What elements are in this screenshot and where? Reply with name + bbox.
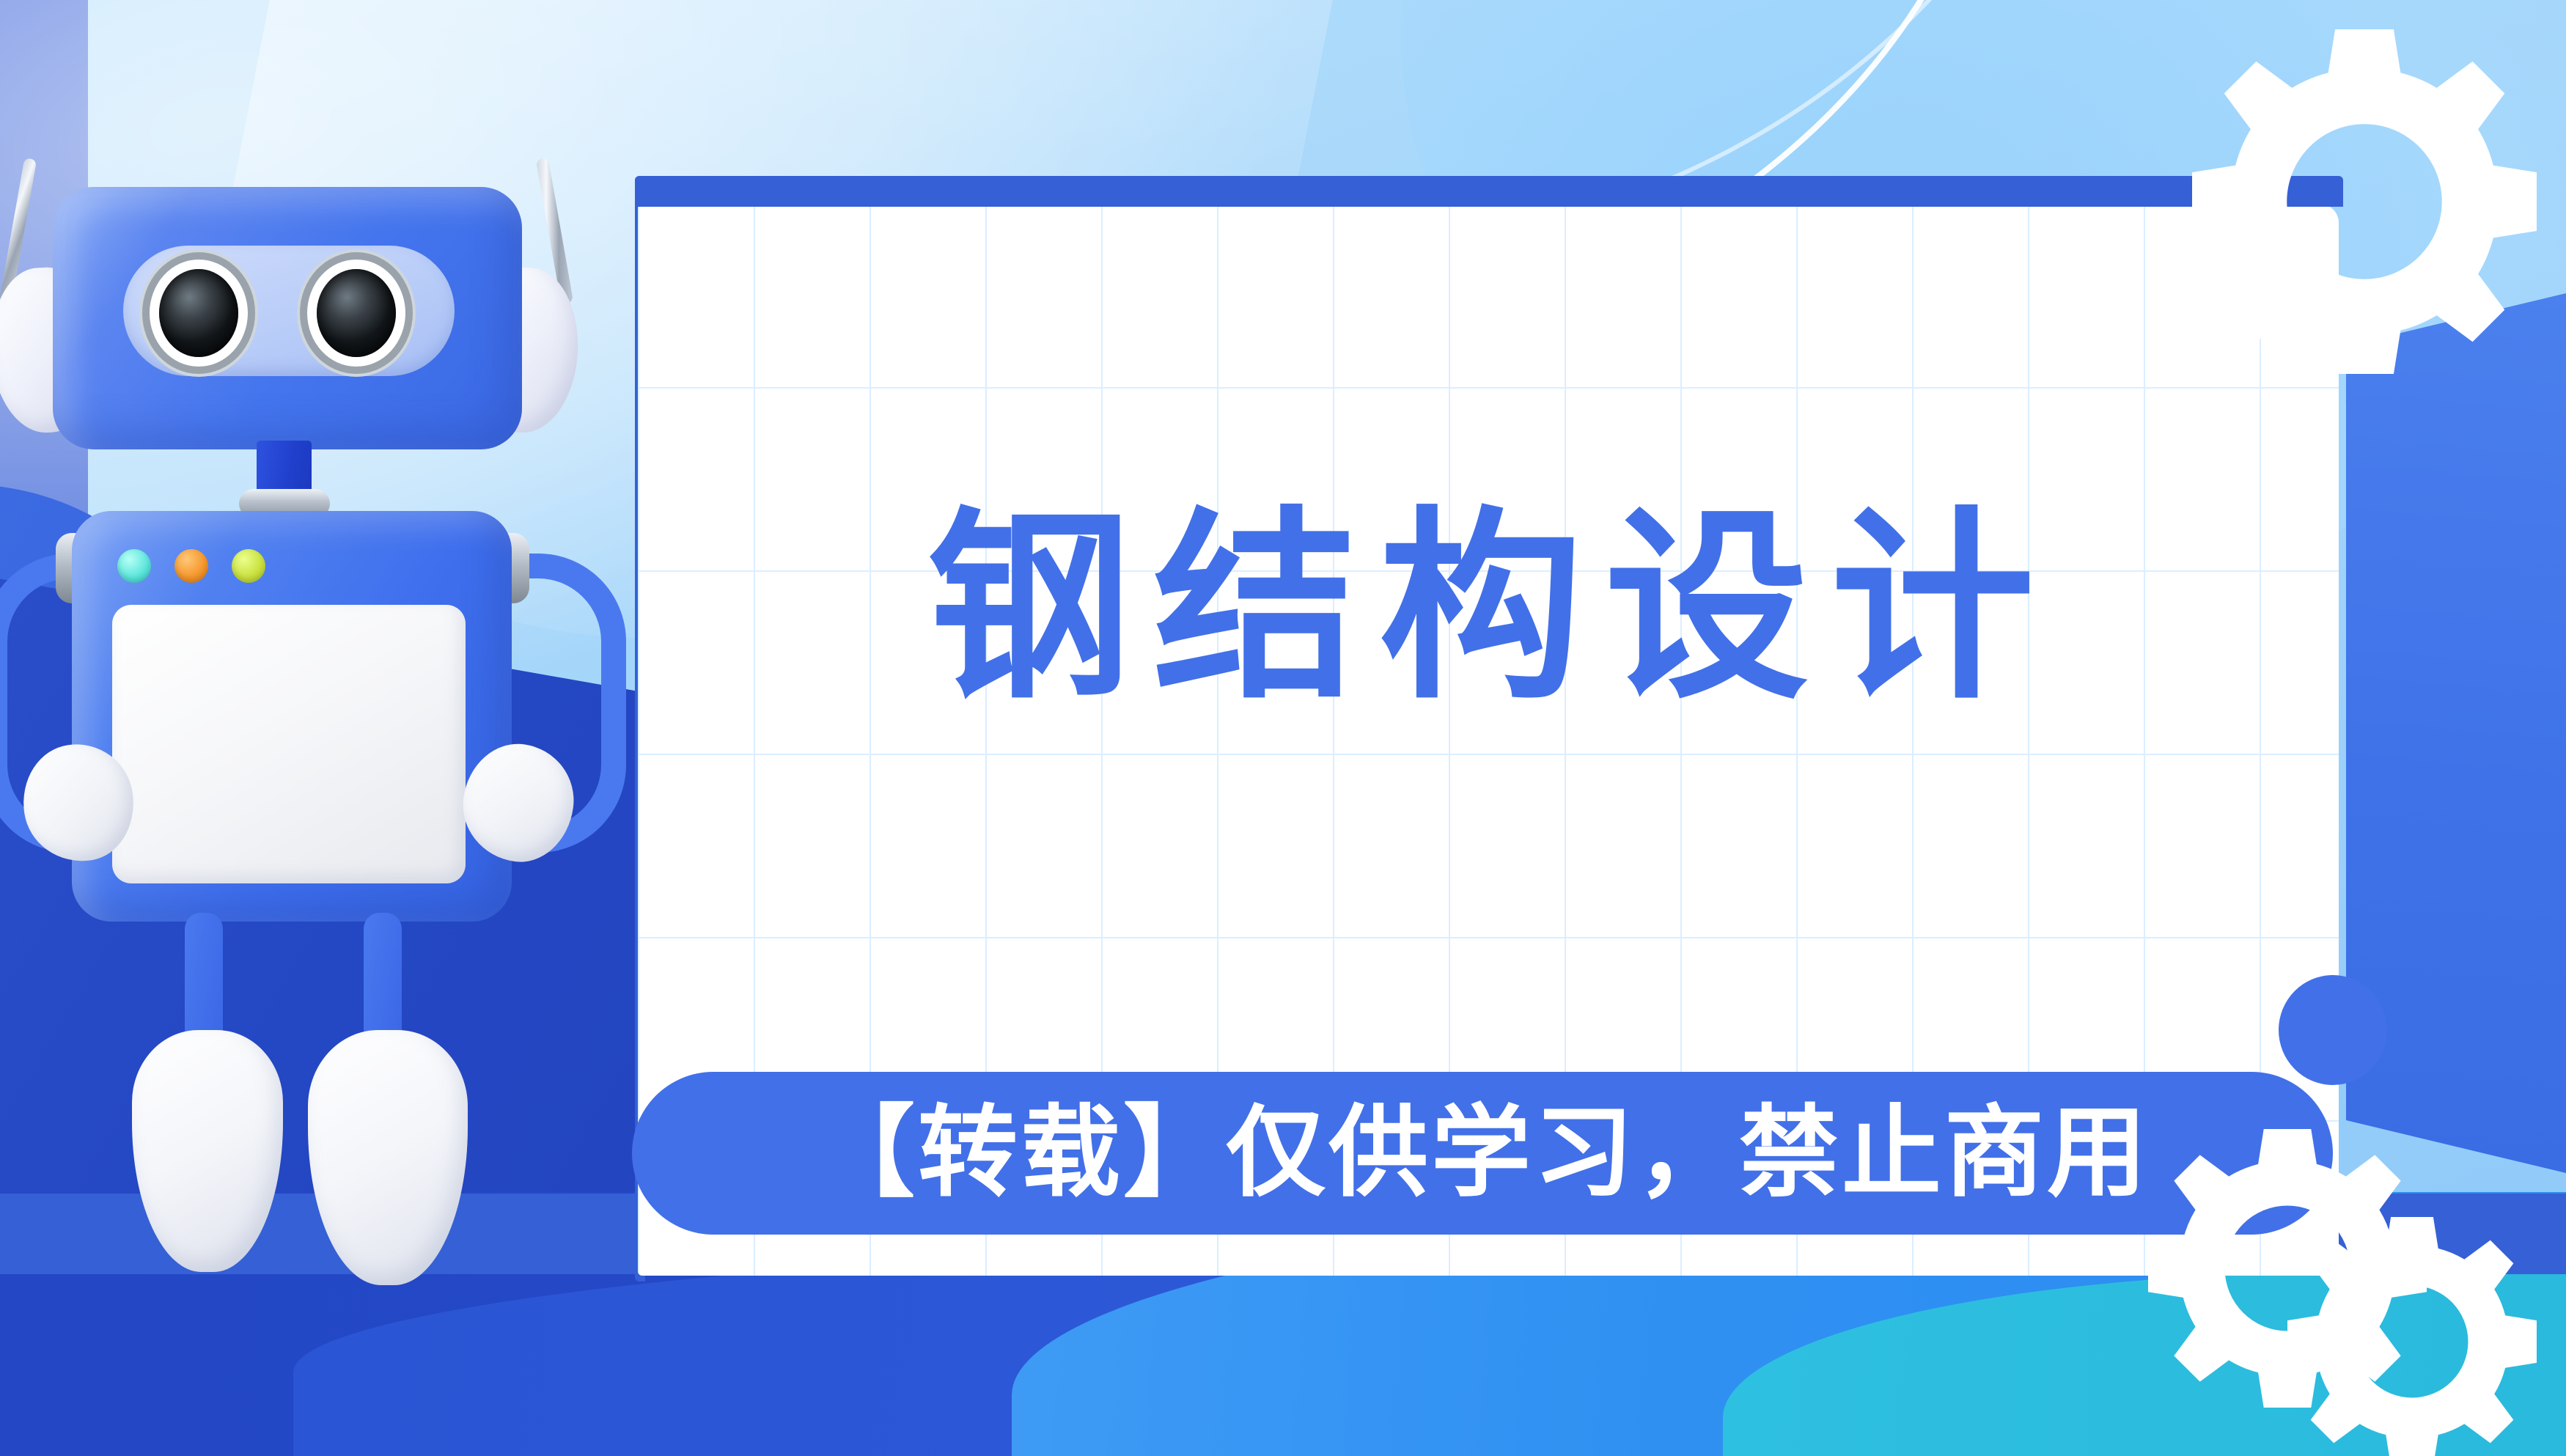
indicator-light-cyan [117,549,151,583]
gear-icon [2192,29,2537,374]
gear-icon [2287,1217,2537,1456]
left-eye-lens [159,269,238,357]
indicator-light-orange [174,549,208,583]
robot-chest-screen [112,605,466,883]
page-title: 钢结构设计 [704,506,2280,710]
decorative-blue-dot [2279,975,2387,1085]
panel-frame-top-border [635,176,2343,207]
robot-torso [72,511,512,922]
robot-mascot [0,158,667,1345]
indicator-light-yellow-green [232,549,265,583]
right-eye-lens [317,269,396,357]
subtitle-banner: 【转载】仅供学习，禁止商用 [632,1072,2333,1235]
subtitle-text: 【转载】仅供学习，禁止商用 [815,1103,2150,1203]
left-leg [185,913,223,1045]
right-foot [308,1030,468,1285]
left-foot [132,1030,283,1272]
right-leg [364,913,402,1045]
poster-canvas: 钢结构设计 【转载】仅供学习，禁止商用 [0,0,2566,1456]
